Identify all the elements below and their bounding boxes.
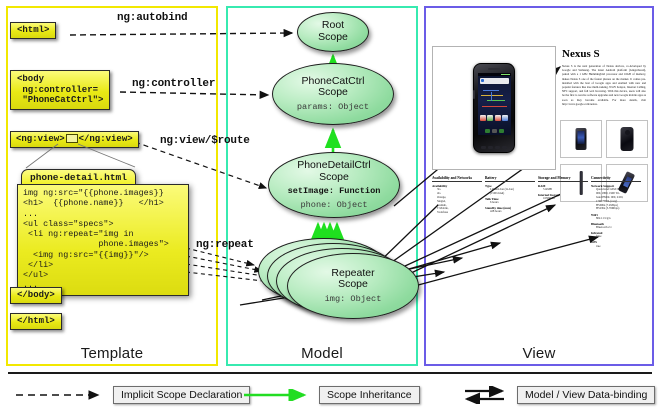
specs-value: 428 hours <box>485 210 535 214</box>
code-html-close[interactable]: </html> <box>10 313 62 330</box>
phone-statusbar <box>478 73 511 76</box>
phone-hero-image-frame[interactable] <box>432 46 556 170</box>
scope-phonedetailctrl-prop-phone: phone: Object <box>300 200 367 210</box>
thumbnail-front-angled-screen-on[interactable] <box>560 120 602 158</box>
specs-heading-storage: Storage and Memory <box>538 176 588 182</box>
legend-item-implicit-scope-declaration: Implicit Scope Declaration <box>14 386 250 404</box>
phone-wallpaper-lines <box>481 90 508 112</box>
scope-root[interactable]: Root Scope <box>297 12 369 52</box>
scope-phonecatctrl[interactable]: PhoneCatCtrl Scope params: Object <box>272 63 394 125</box>
legend-item-model-view-data-binding: Model / View Data-binding <box>462 386 655 404</box>
legend: Implicit Scope Declaration Scope Inherit… <box>0 372 660 420</box>
specs-table: Availability and Networks Availability 3… <box>432 176 646 249</box>
legend-label-scope-inheritance: Scope Inheritance <box>319 386 420 404</box>
code-html-open[interactable]: <html> <box>10 22 56 39</box>
panel-view-label: View <box>426 345 652 362</box>
legend-item-scope-inheritance: Scope Inheritance <box>242 386 420 404</box>
phone-side-button <box>473 90 475 99</box>
code-body-close[interactable]: </body> <box>10 287 62 304</box>
callout-phone-detail[interactable]: phone-detail.html img ng:src="{{phone.im… <box>17 167 189 296</box>
green-arrow-icon <box>242 389 312 401</box>
code-ngview[interactable]: <ng:view></ng:view> <box>10 131 139 148</box>
specs-heading-availability: Availability and Networks <box>432 176 482 182</box>
scope-phonecatctrl-prop-params: params: Object <box>297 102 369 112</box>
phone-screen <box>478 73 511 135</box>
specs-value: 16384MB <box>538 197 588 201</box>
view-content: Nexus S Nexus S is the next generation o… <box>432 14 646 344</box>
legend-label-implicit-scope-declaration: Implicit Scope Declaration <box>113 386 250 404</box>
label-ng-autobind: ng:autobind <box>117 12 187 24</box>
callout-title: phone-detail.html <box>21 169 136 184</box>
ngview-open-tag: <ng:view> <box>16 134 65 144</box>
panel-template-label: Template <box>8 345 216 362</box>
dashed-arrow-icon <box>14 389 106 401</box>
phone-nav-buttons <box>480 129 509 134</box>
specs-col-connectivity: Connectivity Network Support Quad-band G… <box>591 176 641 249</box>
code-body-open[interactable]: <body ng:controller= "PhoneCatCtrl"> <box>10 70 110 110</box>
specs-value: 512MB <box>538 188 588 192</box>
double-arrow-icon <box>462 386 510 404</box>
specs-heading-battery: Battery <box>485 176 535 182</box>
phone-search-widget <box>480 78 509 84</box>
phone-hardware-buttons <box>476 145 512 150</box>
specs-heading-connectivity: Connectivity <box>591 176 641 182</box>
specs-col-battery: Battery Type Lithium Ion (Li-Ion) (1500 … <box>485 176 535 249</box>
label-ng-controller: ng:controller <box>132 78 215 90</box>
label-ng-repeat: ng:repeat <box>196 239 254 251</box>
product-title: Nexus S <box>562 48 600 60</box>
panel-model-label: Model <box>228 345 416 362</box>
phone-app-icons <box>480 115 509 125</box>
label-ng-view-route: ng:view/$route <box>160 135 250 147</box>
ngview-close-tag: </ng:view> <box>79 134 133 144</box>
scope-phonedetailctrl-title: PhoneDetailCtrl Scope <box>297 160 371 184</box>
scope-repeater-prop-img: img: Object <box>325 294 382 304</box>
specs-col-availability: Availability and Networks Availability 3… <box>432 176 482 249</box>
specs-value: (1500 mAh) <box>485 192 535 196</box>
specs-value: false <box>591 235 641 239</box>
diagram-root: Template Model View <box>0 0 660 420</box>
scope-phonedetailctrl[interactable]: PhoneDetailCtrl Scope setImage: Function… <box>268 152 400 218</box>
ngview-slot-icon <box>66 134 78 143</box>
legend-label-model-view-data-binding: Model / View Data-binding <box>517 386 655 404</box>
specs-col-storage: Storage and Memory RAM 512MB Internal St… <box>538 176 588 249</box>
scope-phonedetailctrl-prop-setimage: setImage: Function <box>288 186 381 196</box>
phone-speaker <box>488 68 500 70</box>
specs-value: true <box>591 245 641 249</box>
product-description: Nexus S is the next generation of Nexus … <box>562 64 646 106</box>
legend-divider <box>8 372 652 374</box>
specs-value: Bluetooth 2.1 <box>591 226 641 230</box>
scope-phonecatctrl-title: PhoneCatCtrl Scope <box>301 76 364 100</box>
callout-code: img ng:src="{{phone.images}} <h1> {{phon… <box>17 184 189 296</box>
scope-repeater[interactable]: Repeater Scope img: Object <box>287 253 419 319</box>
scope-root-title: Root Scope <box>318 20 348 44</box>
phone-device-render <box>473 63 515 153</box>
scope-repeater-title: Repeater Scope <box>331 268 374 292</box>
specs-value: Vodafone <box>432 211 482 215</box>
thumbnail-back-view[interactable] <box>606 120 648 158</box>
specs-value: 6 hours <box>485 201 535 205</box>
specs-value: HSUPA (5.76Mbps) <box>591 207 641 211</box>
specs-value: 802.11 b/g/n <box>591 217 641 221</box>
